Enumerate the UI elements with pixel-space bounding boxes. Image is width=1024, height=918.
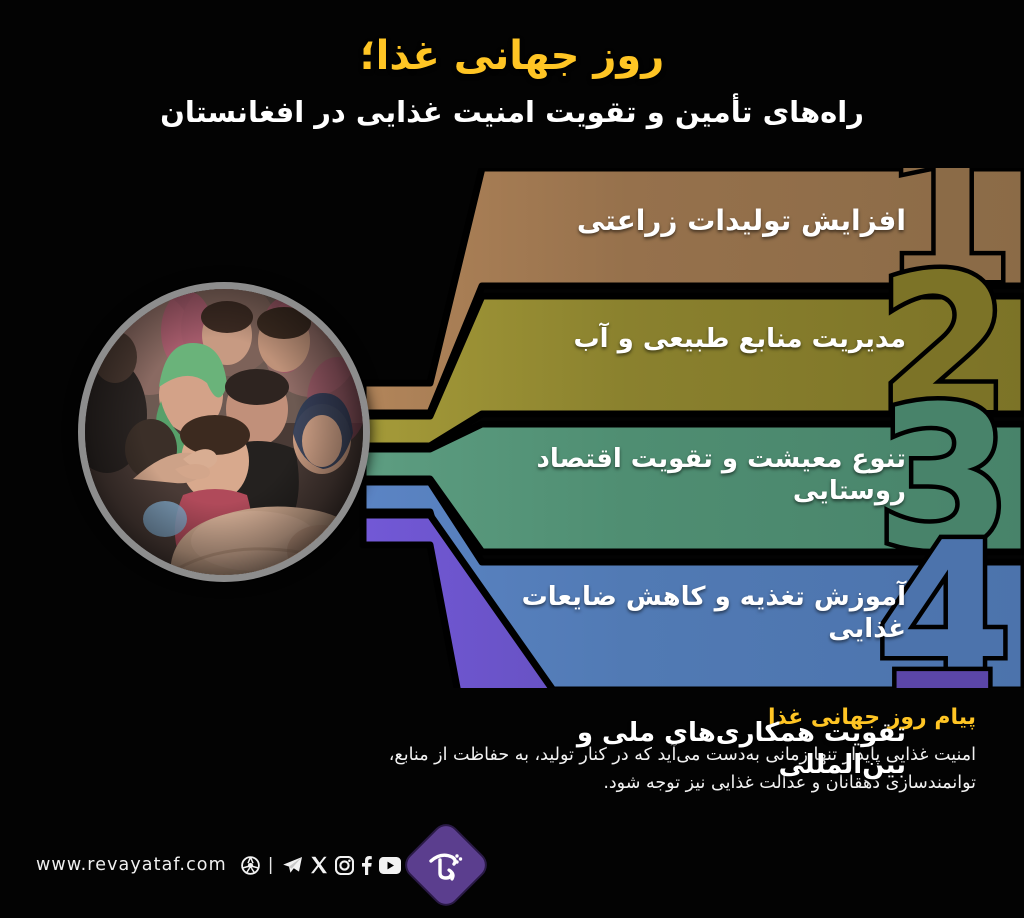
brand-logo[interactable] bbox=[403, 821, 491, 909]
photo-inner bbox=[85, 289, 363, 575]
infographic-canvas: روز جهانی غذا؛ راه‌های تأمین و تقویت امن… bbox=[0, 0, 1024, 918]
photo-vignette bbox=[85, 289, 363, 575]
band-5-label[interactable]: تقویت همکاری‌های ملی و بین‌المللی bbox=[526, 718, 906, 781]
social-links: | bbox=[241, 855, 402, 875]
footer: | www.revayataf.com bbox=[36, 834, 477, 896]
youtube-icon[interactable] bbox=[379, 857, 401, 874]
band-2-label[interactable]: مدیریت منابع طبیعی و آب bbox=[436, 324, 906, 356]
instagram-icon[interactable] bbox=[335, 856, 354, 875]
photo-circle bbox=[78, 282, 370, 582]
globe-icon[interactable] bbox=[241, 856, 260, 875]
website-url[interactable]: www.revayataf.com bbox=[36, 855, 227, 875]
telegram-icon[interactable] bbox=[282, 856, 303, 874]
page-title: روز جهانی غذا؛ bbox=[0, 34, 1024, 78]
x-icon[interactable] bbox=[310, 856, 328, 874]
facebook-icon[interactable] bbox=[361, 856, 372, 875]
revayat-logo-icon bbox=[426, 845, 466, 885]
header: روز جهانی غذا؛ راه‌های تأمین و تقویت امن… bbox=[0, 0, 1024, 130]
footer-separator: | bbox=[268, 855, 274, 875]
page-subtitle: راه‌های تأمین و تقویت امنیت غذایی در افغ… bbox=[0, 94, 1024, 130]
band-4-label[interactable]: آموزش تغذیه و کاهش ضایعات غذایی bbox=[506, 582, 906, 645]
band-3-label[interactable]: تنوع معیشت و تقویت اقتصاد روستایی bbox=[476, 444, 906, 507]
band-1-label[interactable]: افزایش تولیدات زراعتی bbox=[436, 204, 906, 238]
